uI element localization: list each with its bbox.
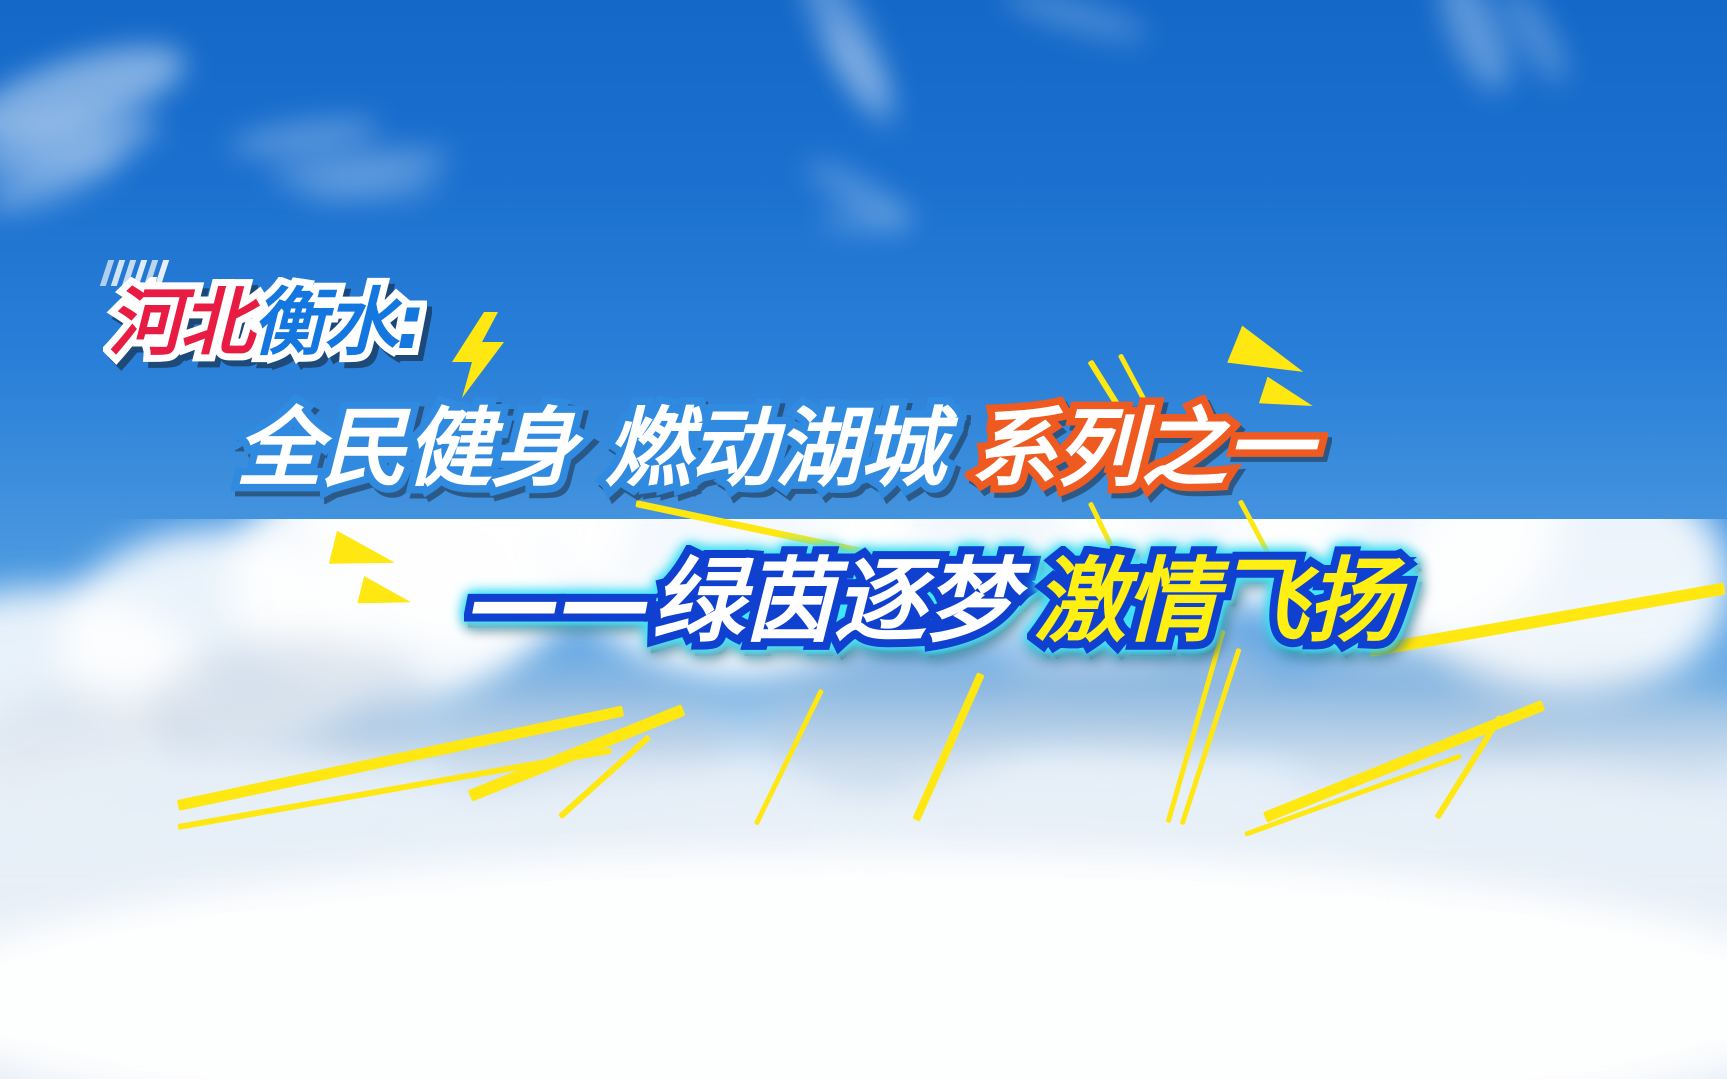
title-line2-segment-b: 激情飞扬 [1034, 548, 1398, 655]
title-text-block: 河北衡水: 全民健身 燃动湖城系列之一 ——绿茵逐梦激情飞扬 [0, 0, 1727, 1079]
title-line-1: 全民健身 燃动湖城系列之一 [236, 406, 1311, 492]
title-line1-segment-a: 全民健身 燃动湖城 [236, 399, 945, 499]
badge-text-blue: 衡水: [252, 280, 424, 366]
title-card: 河北衡水: 全民健身 燃动湖城系列之一 ——绿茵逐梦激情飞扬 [0, 0, 1727, 1079]
title-badge: 河北衡水: [108, 286, 424, 360]
title-line-2: ——绿茵逐梦激情飞扬 [470, 556, 1398, 648]
title-line1-segment-b: 系列之一 [971, 399, 1311, 499]
badge-text-red: 河北 [108, 280, 252, 366]
title-line2-segment-a: ——绿茵逐梦 [470, 548, 1016, 655]
